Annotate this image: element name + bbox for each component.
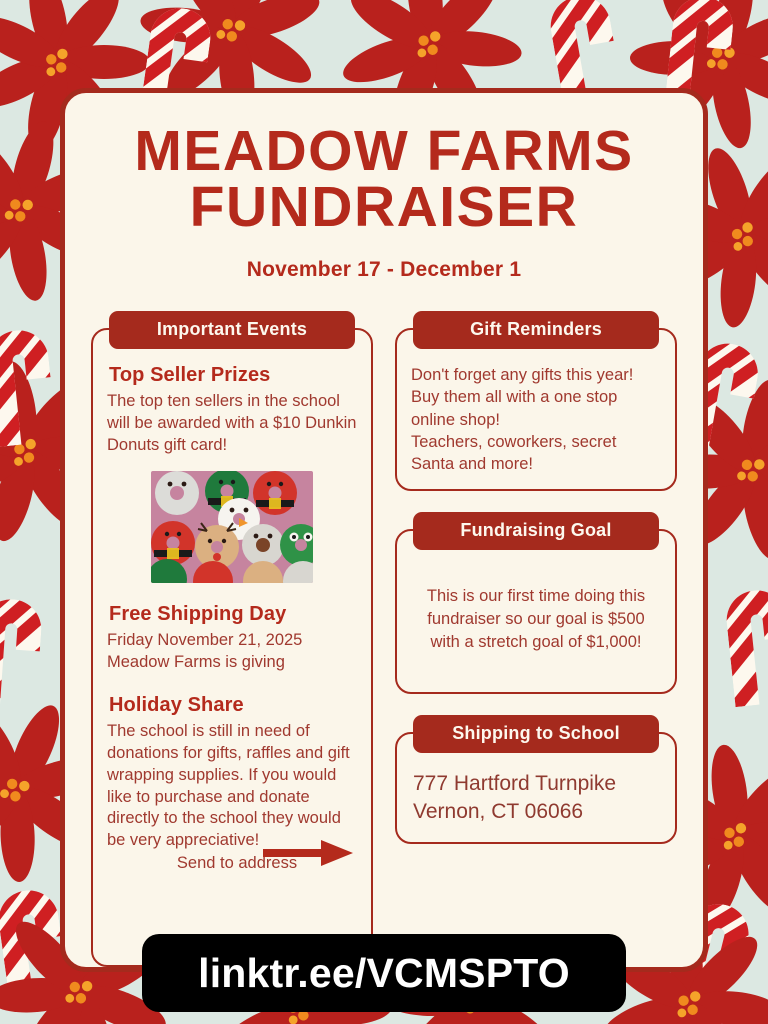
important-events-body: Top Seller Prizes The top ten sellers in…: [91, 328, 373, 967]
page-title-line-2: FUNDRAISER: [89, 179, 679, 235]
page-title-line-1: MEADOW FARMS: [89, 123, 679, 179]
gift-reminders-body: Don't forget any gifts this year! Buy th…: [395, 328, 677, 491]
event-heading: Top Seller Prizes: [109, 364, 357, 387]
event-body: The top ten sellers in the school will b…: [107, 391, 357, 457]
fundraising-goal-card: Fundraising Goal This is our first time …: [395, 512, 677, 694]
holiday-fundraiser-flyer: MEADOW FARMS FUNDRAISER November 17 - De…: [0, 0, 768, 1024]
important-events-card: Important Events Top Seller Prizes The t…: [91, 311, 373, 967]
linktree-url-banner[interactable]: linktr.ee/VCMSPTO: [142, 934, 626, 1012]
shipping-to-school-card: Shipping to School 777 Hartford Turnpike…: [395, 715, 677, 843]
event-heading: Holiday Share: [109, 694, 357, 717]
flyer-main-panel: MEADOW FARMS FUNDRAISER November 17 - De…: [60, 88, 708, 972]
gift-reminders-header: Gift Reminders: [413, 311, 659, 349]
right-column: Gift Reminders Don't forget any gifts th…: [395, 311, 677, 967]
content-columns: Important Events Top Seller Prizes The t…: [65, 311, 703, 967]
left-column: Important Events Top Seller Prizes The t…: [91, 311, 373, 967]
page-title: MEADOW FARMS FUNDRAISER: [89, 123, 679, 236]
important-events-header: Important Events: [109, 311, 355, 349]
event-heading: Free Shipping Day: [109, 603, 357, 626]
event-top-seller-prizes: Top Seller Prizes The top ten sellers in…: [107, 364, 357, 457]
shipping-to-school-header: Shipping to School: [413, 715, 659, 753]
send-to-address-row: Send to address: [107, 854, 357, 880]
address-line-1: 777 Hartford Turnpike: [413, 770, 659, 798]
address-line-2: Vernon, CT 06066: [413, 798, 659, 826]
event-holiday-share: Holiday Share The school is still in nee…: [107, 694, 357, 853]
arrow-right-icon: [263, 838, 355, 868]
event-free-shipping-day: Free Shipping Day Friday November 21, 20…: [107, 603, 357, 674]
fundraising-goal-body: This is our first time doing this fundra…: [415, 585, 657, 654]
event-body: The school is still in need of donations…: [107, 721, 357, 853]
linktree-url-text: linktr.ee/VCMSPTO: [198, 950, 570, 997]
holiday-donuts-photo: [151, 471, 313, 583]
gift-reminders-card: Gift Reminders Don't forget any gifts th…: [395, 311, 677, 491]
fundraising-goal-body-wrap: This is our first time doing this fundra…: [395, 529, 677, 694]
event-body: Friday November 21, 2025 Meadow Farms is…: [107, 630, 357, 674]
date-range: November 17 - December 1: [65, 258, 703, 282]
fundraising-goal-header: Fundraising Goal: [413, 512, 659, 550]
